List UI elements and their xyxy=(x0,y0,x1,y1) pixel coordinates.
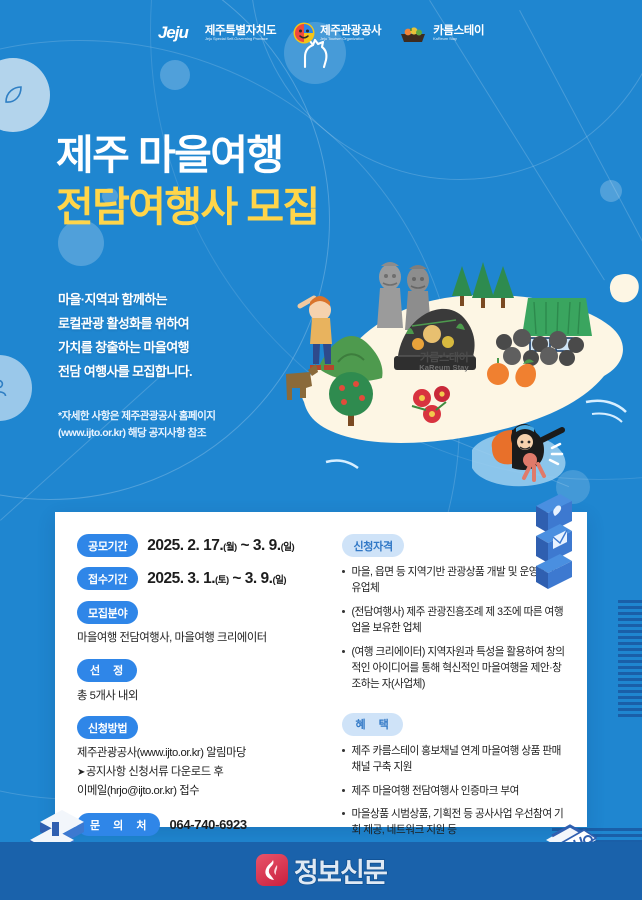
lede-line: 전담 여행사를 모집합니다. xyxy=(58,360,192,384)
pine-trees xyxy=(452,262,514,308)
logo-label-en: Jeju Tourism Organization xyxy=(320,37,379,41)
block-line: 마을여행 전담여행사, 마을여행 크리에이터 xyxy=(77,629,328,648)
bullet-item: 제주 마을여행 전담여행사 인증마크 부여 xyxy=(342,783,569,799)
date-value: 2025. 3. 1.(토) ~ 3. 9.(일) xyxy=(147,570,286,588)
hero-note: *자세한 사항은 제주관광공사 홈페이지 (www.ijto.or.kr) 해당… xyxy=(58,408,215,443)
contact-row: 문 의 처 064-740-6923 xyxy=(77,813,328,836)
logo-label-en: Jeju Special Self-Governing Province xyxy=(205,37,273,41)
date-value: 2025. 2. 17.(월) ~ 3. 9.(일) xyxy=(147,537,294,555)
logo-jeju-tourism-org: 제주관광공사 Jeju Tourism Organization xyxy=(293,22,381,44)
caption-en: KaReum Stay xyxy=(398,364,490,372)
label-pill-gongmo: 공모기간 xyxy=(77,534,138,557)
block-selection: 선 정 총 5개사 내외 xyxy=(77,659,328,706)
headline-line-2: 전담여행사 모집 xyxy=(56,182,319,232)
lede-line: 마을·지역과 함께하는 xyxy=(58,288,192,312)
note-line: (www.ijto.or.kr) 해당 공지사항 참조 xyxy=(58,425,215,442)
hero-lede: 마을·지역과 함께하는 로컬관광 활성화를 위하여 가치를 창출하는 마을여행 … xyxy=(58,288,192,384)
logo-label-en: KaReum Stay xyxy=(433,37,482,41)
edge-badge-circle xyxy=(0,355,32,421)
label-pill-jeopsu: 접수기간 xyxy=(77,567,138,590)
jeju-island-illustration xyxy=(286,252,642,507)
bullet-item: (여행 크리에이터) 지역자원과 특성을 활용하여 창의적인 아이디어를 통해 … xyxy=(342,644,569,693)
footer-brand-text: 정보신문 xyxy=(294,851,386,890)
poster-root: Jeju 제주특별자치도 Jeju Special Self-Governing… xyxy=(0,0,642,900)
block-how-to-apply: 신청방법 제주관광공사(www.ijto.or.kr) 알림마당 ➤공지사항 신… xyxy=(77,716,328,800)
block-recruit-field: 모집분야 마을여행 전담여행사, 마을여행 크리에이터 xyxy=(77,601,328,648)
decorative-dot xyxy=(600,180,622,202)
books-stack-3d-icon xyxy=(524,492,578,605)
illustration-caption: 카름스테이 KaReum Stay xyxy=(398,352,490,373)
contact-phone: 064-740-6923 xyxy=(169,817,246,832)
bullet-item: (전담여행사) 제주 관광진흥조례 제 3조에 따른 여행업을 보유한 업체 xyxy=(342,604,569,637)
child-figure xyxy=(300,296,334,370)
label-pill-hyetaek: 혜 택 xyxy=(342,713,402,736)
lede-line: 가치를 창출하는 마을여행 xyxy=(58,336,192,360)
arrow-right-icon: ➤ xyxy=(77,767,85,778)
bullet-item: 마을상품 시범상품, 기획전 등 공사사업 우선참여 기회 제공, 네트워크 지… xyxy=(342,806,569,839)
label-pill-sincheongjagyeok: 신청자격 xyxy=(342,534,403,557)
decorative-line xyxy=(519,10,642,276)
jto-smile-icon xyxy=(293,22,315,44)
decorative-stripes xyxy=(618,600,642,720)
date-row-application-period: 공모기간 2025. 2. 17.(월) ~ 3. 9.(일) xyxy=(77,534,328,557)
decorative-line xyxy=(0,373,164,521)
logo-label-ko: 제주특별자치도 xyxy=(205,25,276,37)
logo-jeju-province: 제주특별자치도 Jeju Special Self-Governing Prov… xyxy=(205,25,276,41)
hero-headline: 제주 마을여행 전담여행사 모집 xyxy=(56,130,319,232)
person-icon xyxy=(0,376,11,400)
block-line: 제주관광공사(www.ijto.or.kr) 알림마당 xyxy=(77,744,328,763)
edge-badge-circle xyxy=(0,58,50,132)
logo-kareum-stay: 카름스테이 KaReum Stay xyxy=(398,23,484,43)
section-divider xyxy=(342,700,569,713)
logo-label-ko: 카름스테이 xyxy=(433,25,484,37)
label-pill-sincheongbangbeop: 신청방법 xyxy=(77,716,138,739)
lede-line: 로컬관광 활성화를 위하여 xyxy=(58,312,192,336)
note-line: *자세한 사항은 제주관광공사 홈페이지 xyxy=(58,408,215,425)
decorative-dot xyxy=(160,60,190,90)
logo-jeju-wordmark: Jeju xyxy=(158,23,188,43)
footer-brand-logo: 정보신문 xyxy=(0,850,642,890)
label-pill-seonjeong: 선 정 xyxy=(77,659,137,682)
jeju-wordmark-text: Jeju xyxy=(158,23,188,43)
section-benefits: 혜 택 제주 카름스테이 홍보채널 연계 마을여행 상품 판매채널 구축 지원 … xyxy=(342,713,569,839)
kareum-basket-icon xyxy=(398,23,428,43)
block-line: 총 5개사 내외 xyxy=(77,687,328,706)
logo-label-ko: 제주관광공사 xyxy=(320,25,381,37)
date-row-receipt-period: 접수기간 2025. 3. 1.(토) ~ 3. 9.(일) xyxy=(77,567,328,590)
partner-logo-bar: Jeju 제주특별자치도 Jeju Special Self-Governing… xyxy=(0,22,642,44)
flame-icon xyxy=(256,854,288,886)
block-line: 공지사항 신청서류 다운로드 후 xyxy=(86,766,223,778)
info-card: 공모기간 2025. 2. 17.(월) ~ 3. 9.(일) 접수기간 202… xyxy=(55,512,587,827)
jeju-island-map xyxy=(286,252,642,507)
label-pill-mojipbunya: 모집분야 xyxy=(77,601,138,624)
bullet-item: 제주 카름스테이 홍보채널 연계 마을여행 상품 판매채널 구축 지원 xyxy=(342,743,569,776)
headline-line-1: 제주 마을여행 xyxy=(56,130,319,180)
block-line: 이메일(hrjo@ijto.or.kr) 접수 xyxy=(77,782,328,801)
leaf-icon xyxy=(0,82,26,108)
card-left-column: 공모기간 2025. 2. 17.(월) ~ 3. 9.(일) 접수기간 202… xyxy=(77,534,328,813)
dol-hareubang-statue xyxy=(377,262,403,328)
